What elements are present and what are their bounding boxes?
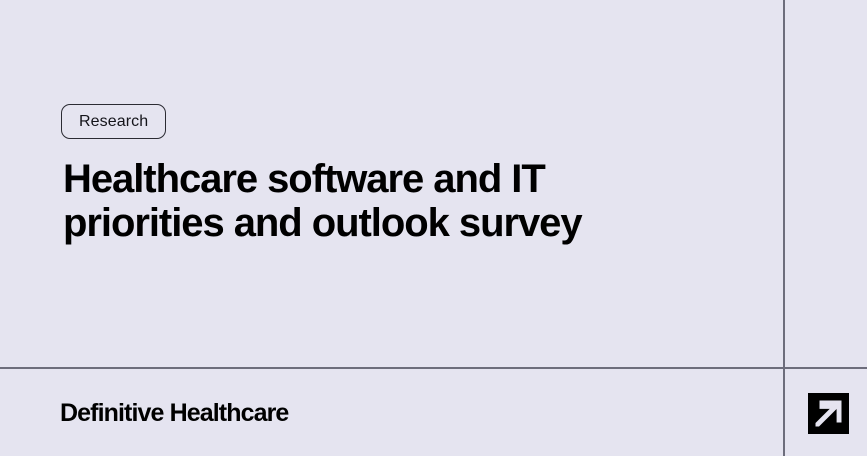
category-badge-research[interactable]: Research: [61, 104, 166, 139]
hero-content: Research Healthcare software and IT prio…: [61, 104, 761, 245]
vertical-divider: [783, 0, 785, 456]
slide-canvas: Research Healthcare software and IT prio…: [0, 0, 867, 456]
page-title: Healthcare software and IT priorities an…: [63, 157, 623, 245]
arrow-up-right-icon[interactable]: [808, 393, 849, 434]
brand-logotype: Definitive Healthcare: [60, 398, 288, 428]
horizontal-divider: [0, 367, 867, 369]
